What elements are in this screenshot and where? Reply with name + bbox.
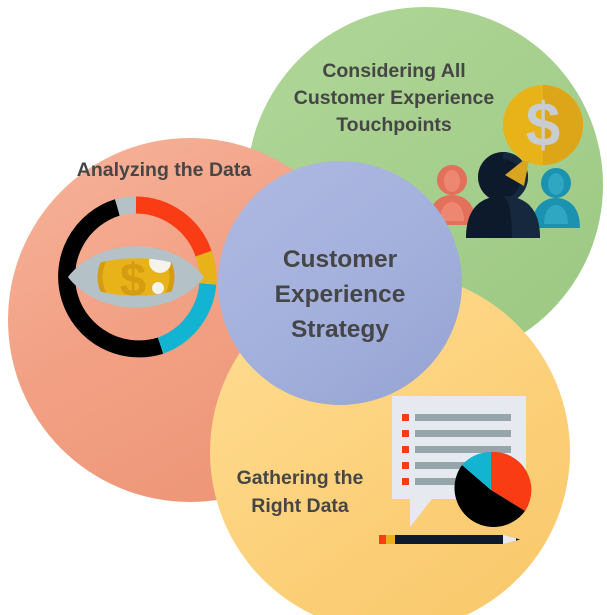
label-center-line-2: Experience xyxy=(275,281,406,308)
donut-segment-gray xyxy=(117,205,136,207)
label-center-strategy: Customer Experience Strategy xyxy=(275,246,406,343)
dollar-glyph: $ xyxy=(526,91,560,160)
donut-segment-gold xyxy=(204,254,208,284)
venn-diagram: $ xyxy=(0,0,607,615)
label-analyzing: Analyzing the Data xyxy=(77,159,252,181)
survey-row xyxy=(402,414,511,421)
label-touchpoints-line-3: Touchpoints xyxy=(336,114,452,136)
diagram-canvas: $ xyxy=(0,0,607,615)
pencil-icon xyxy=(379,535,520,544)
label-touchpoints-line-1: Considering All xyxy=(322,60,465,82)
label-touchpoints-line-2: Customer Experience xyxy=(294,87,495,109)
label-gathering-line-2: Right Data xyxy=(251,495,349,517)
label-center-line-1: Customer xyxy=(283,246,398,273)
label-center-line-3: Strategy xyxy=(291,316,389,343)
survey-row xyxy=(402,430,511,437)
coin-highlight-small xyxy=(152,282,164,294)
label-gathering-line-1: Gathering the xyxy=(237,467,364,489)
